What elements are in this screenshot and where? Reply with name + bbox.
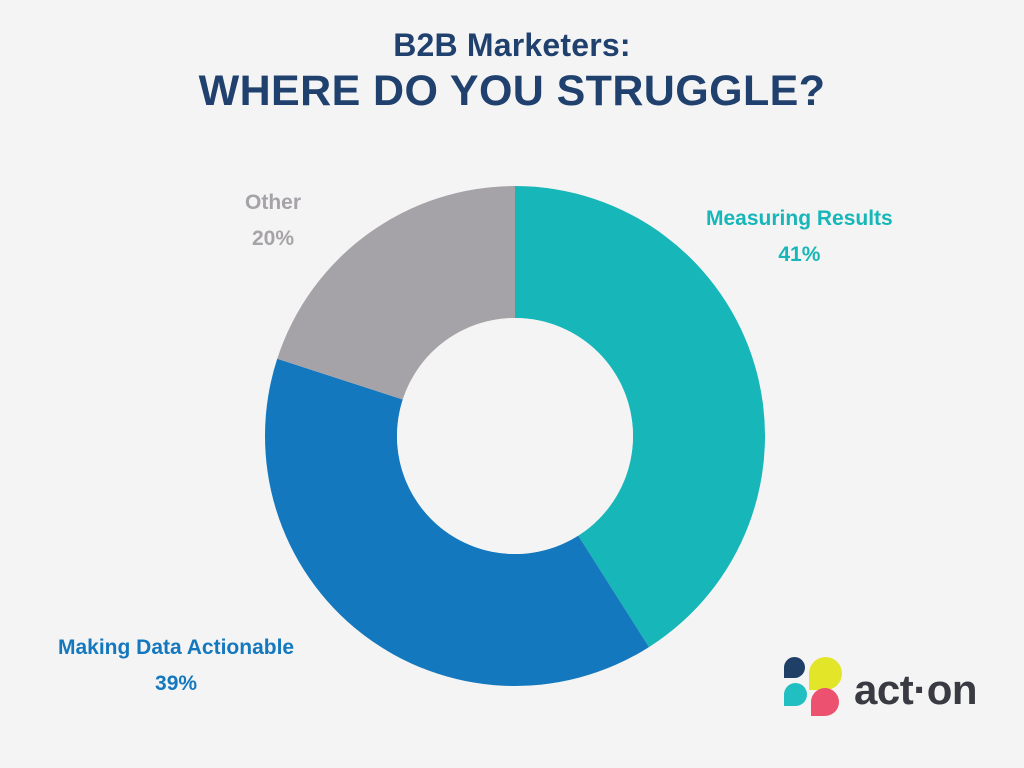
callout-measuring-results-percent: 41% [706, 240, 893, 270]
title-line-1: B2B Marketers: [0, 28, 1024, 63]
callout-other: Other 20% [245, 188, 301, 255]
acton-petal-bottom-right-icon [811, 688, 839, 716]
acton-petal-top-right-icon [809, 657, 842, 690]
callout-making-data-actionable: Making Data Actionable 39% [58, 633, 294, 700]
acton-logo: act·on [782, 656, 962, 720]
callout-other-label: Other [245, 188, 301, 218]
acton-petal-top-left-icon [784, 657, 805, 678]
callout-measuring-results-label: Measuring Results [706, 204, 893, 234]
acton-wordmark: act·on [854, 669, 977, 711]
donut-chart [265, 186, 765, 686]
acton-logo-mark-icon [782, 657, 844, 719]
acton-petal-bottom-left-icon [784, 683, 807, 706]
donut-chart-svg [265, 186, 765, 686]
callout-other-percent: 20% [245, 224, 301, 254]
title-line-2: WHERE DO YOU STRUGGLE? [0, 67, 1024, 115]
page-title: B2B Marketers: WHERE DO YOU STRUGGLE? [0, 28, 1024, 115]
callout-making-data-actionable-percent: 39% [58, 669, 294, 699]
callout-measuring-results: Measuring Results 41% [706, 204, 893, 271]
infographic-canvas: B2B Marketers: WHERE DO YOU STRUGGLE? Me… [0, 0, 1024, 768]
callout-making-data-actionable-label: Making Data Actionable [58, 633, 294, 663]
donut-center-hole [397, 318, 633, 554]
